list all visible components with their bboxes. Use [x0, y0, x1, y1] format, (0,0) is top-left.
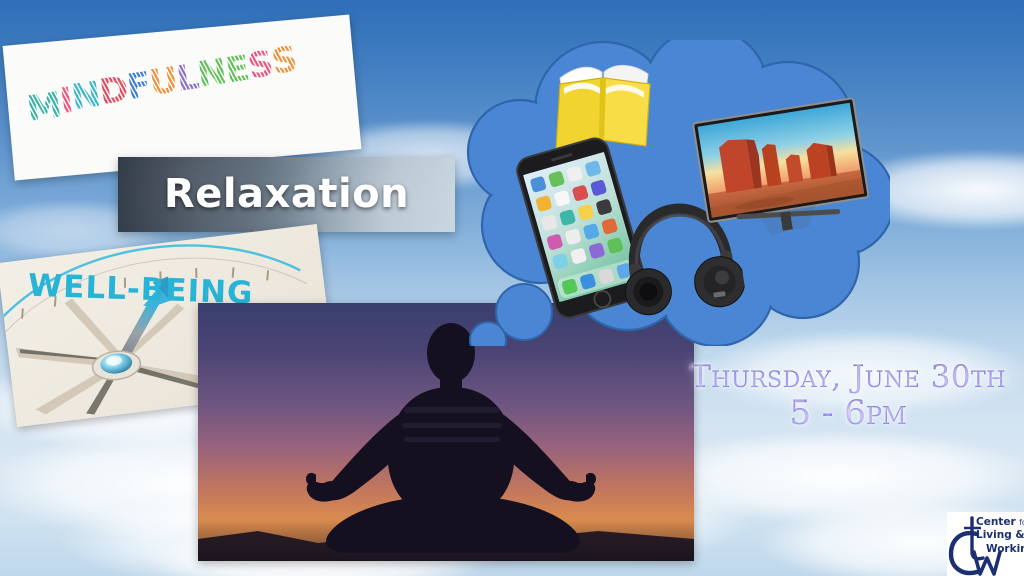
relaxation-banner: Relaxation	[118, 157, 455, 232]
mindfulness-letter: S	[270, 43, 299, 81]
clw-logo: Center for Living & Working	[947, 512, 1024, 576]
event-time: 5 - 6pm	[672, 396, 1024, 431]
event-date-time: Thursday, June 30th 5 - 6pm	[672, 362, 1024, 431]
television-icon	[691, 96, 876, 252]
logo-text: Center for Living & Working	[976, 516, 1024, 556]
event-date: Thursday, June 30th	[672, 362, 1024, 394]
logo-line-1: Center for	[976, 516, 1024, 529]
logo-line-2: Living &	[976, 529, 1024, 542]
mindfulness-label: MINDFULNESS	[24, 39, 356, 122]
thought-bubble	[448, 40, 890, 346]
poster-canvas: MINDFULNESS Relaxation	[0, 0, 1024, 576]
logo-line-3: Working	[986, 543, 1024, 556]
mindfulness-letter: M	[25, 89, 64, 129]
relaxation-label: Relaxation	[118, 171, 455, 217]
